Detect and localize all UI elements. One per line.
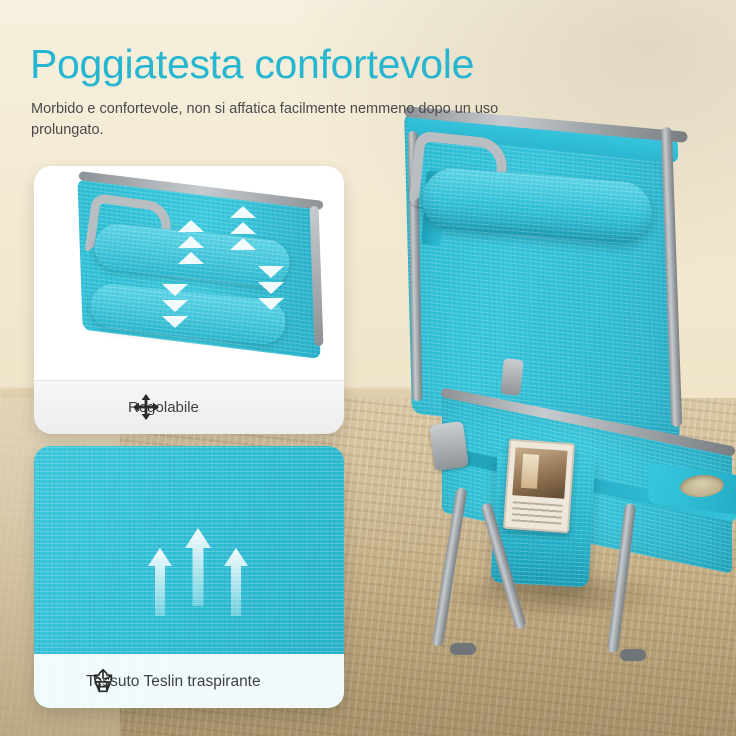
leg-foot-front: [450, 643, 476, 655]
page-title: Poggiatesta confortevole: [30, 43, 474, 86]
page-subtitle: Morbido e confortevole, non si affatica …: [31, 99, 531, 141]
product-infographic: Poggiatesta confortevole Morbido e confo…: [0, 0, 736, 736]
feature-card-breathable: Tessuto Teslin traspirante: [34, 446, 344, 708]
magazine-in-pocket: [503, 439, 575, 533]
breathable-fabric-icon: [88, 666, 118, 696]
breathable-label-bar: Tessuto Teslin traspirante: [34, 654, 344, 708]
feature-card-adjustable: Regolabile: [34, 166, 344, 434]
adjustable-label-bar: Regolabile: [34, 380, 344, 434]
recline-tab: [500, 358, 524, 396]
leg-foot-rear: [620, 649, 646, 661]
recline-hinge: [429, 421, 469, 471]
magazine-cover-text: [511, 501, 562, 524]
magazine-cover-photo: [512, 447, 567, 499]
four-way-arrows-icon: [132, 393, 160, 421]
folding-lounger: [380, 105, 736, 635]
adjustable-detail-photo: [34, 166, 344, 380]
airflow-arrows: [138, 520, 258, 630]
